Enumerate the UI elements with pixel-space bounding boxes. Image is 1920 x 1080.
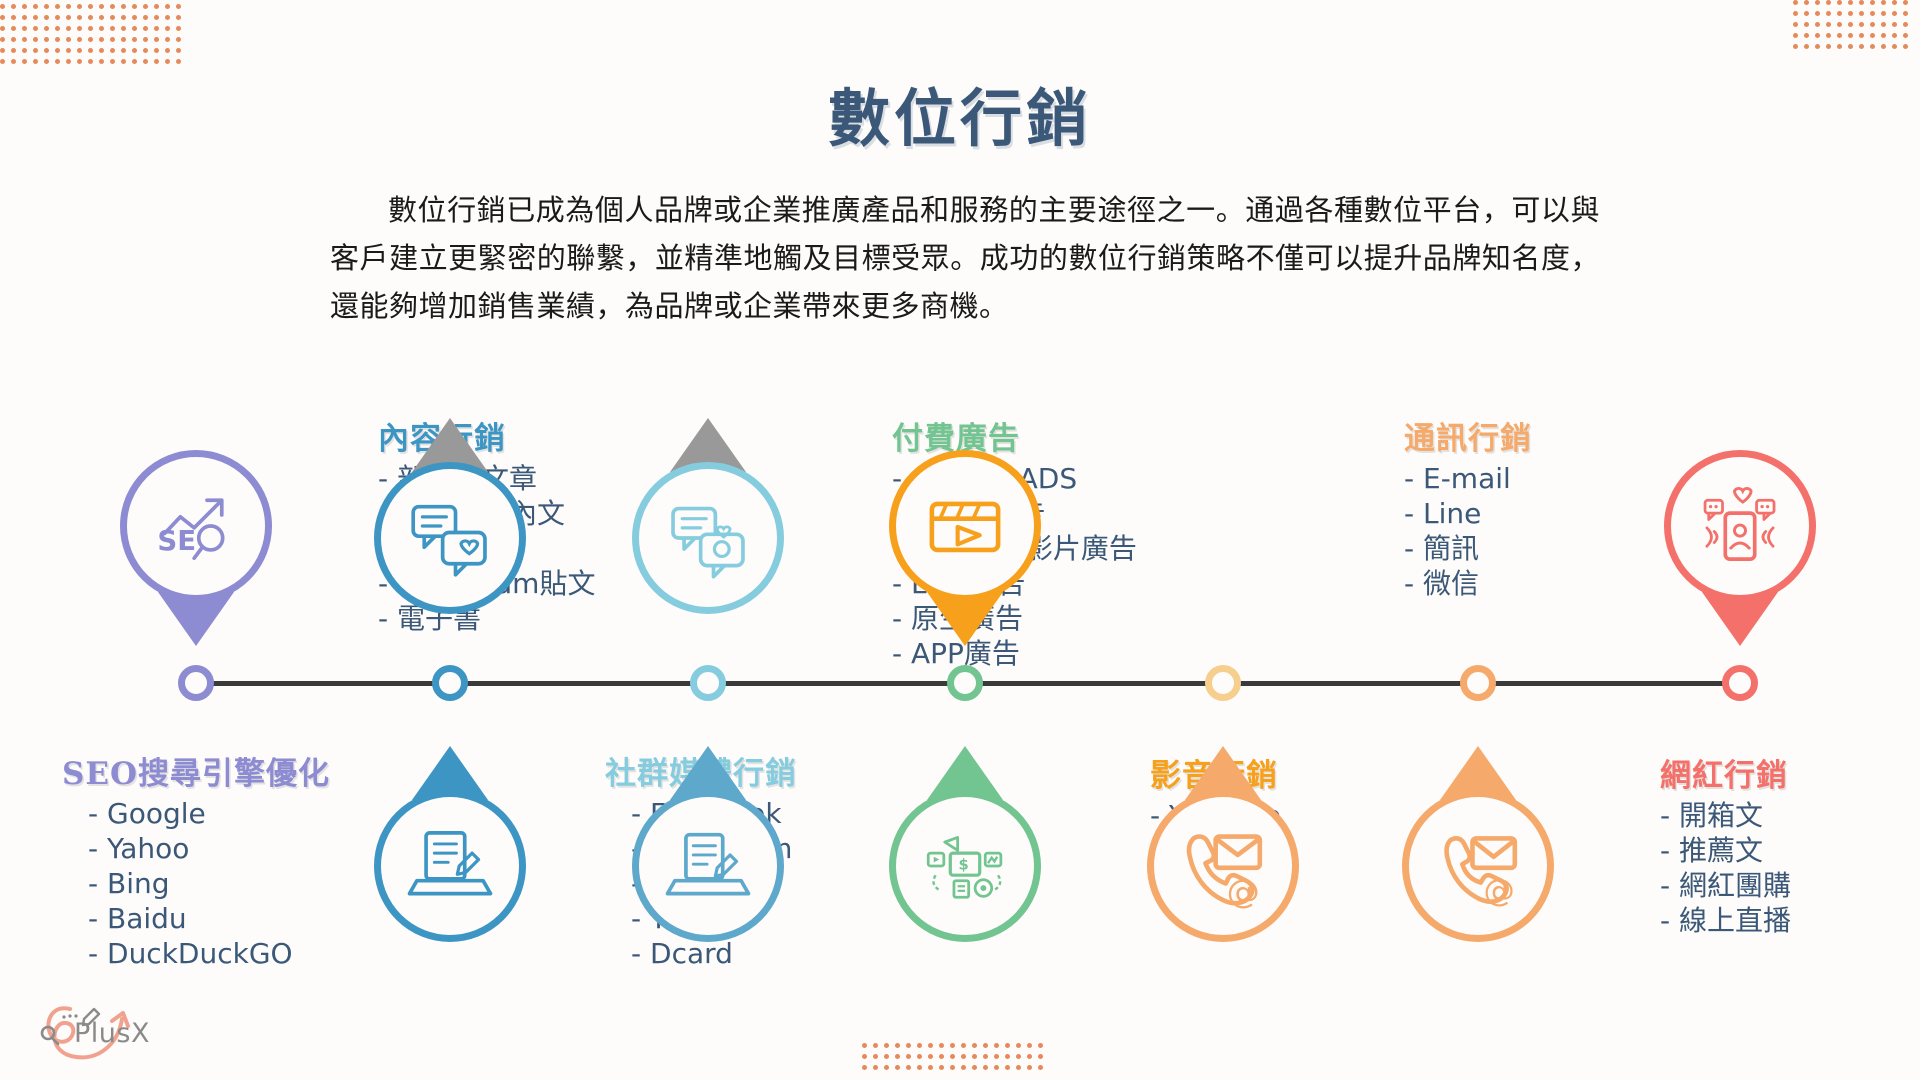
pin-seo[interactable]: SE <box>120 450 272 602</box>
timeline-node-paid-ads[interactable] <box>947 665 983 701</box>
section-influencer: 網紅行銷 - 開箱文 - 推薦文 - 網紅團購 - 線上直播 <box>1660 750 1791 938</box>
section-list-influencer: - 開箱文 - 推薦文 - 網紅團購 - 線上直播 <box>1660 798 1791 938</box>
video-clapper-play-icon <box>919 480 1011 572</box>
seo-magnifier-chart-icon: SE <box>150 480 242 572</box>
laptop-pen-icon <box>662 820 754 912</box>
section-seo: SEO搜尋引擎優化 - Google - Yahoo - Bing - Baid… <box>62 748 330 971</box>
smartphone-livestream-hearts-icon <box>1694 480 1786 572</box>
infographic-canvas: 數位行銷 數位行銷已成為個人品牌或企業推廣產品和服務的主要途徑之一。通過各種數位… <box>0 0 1920 1080</box>
list-item: - DuckDuckGO <box>88 936 330 971</box>
list-item: - Baidu <box>88 901 330 936</box>
chat-bubbles-social-icon <box>662 492 754 584</box>
laptop-pen-document-icon <box>404 820 496 912</box>
pin-content[interactable] <box>374 462 526 614</box>
section-list-seo: - Google - Yahoo - Bing - Baidu - DuckDu… <box>62 796 330 971</box>
timeline-node-influencer[interactable] <box>1722 665 1758 701</box>
section-list-messaging: - E-mail - Line - 簡訊 - 微信 <box>1404 461 1532 601</box>
section-heading-seo: SEO搜尋引擎優化 <box>62 748 330 793</box>
list-item: - Bing <box>88 866 330 901</box>
list-item: - 推薦文 <box>1660 833 1791 868</box>
svg-text:@: @ <box>1227 872 1260 911</box>
pin-social-graphic[interactable] <box>632 462 784 614</box>
page-title: 數位行銷 <box>0 68 1920 158</box>
timeline-node-social[interactable] <box>690 665 726 701</box>
pin-social-laptop[interactable] <box>632 790 784 942</box>
dot-pattern-bottom <box>862 1043 1049 1076</box>
list-item: - 開箱文 <box>1660 798 1791 833</box>
list-item: - E-mail <box>1404 461 1532 496</box>
list-item: - 線上直播 <box>1660 903 1791 938</box>
timeline-node-messaging[interactable] <box>1460 665 1496 701</box>
pin-messaging[interactable]: @ <box>1402 790 1554 942</box>
section-messaging: 通訊行銷 - E-mail - Line - 簡訊 - 微信 <box>1404 413 1532 601</box>
timeline-node-seo[interactable] <box>178 665 214 701</box>
pin-social[interactable] <box>374 790 526 942</box>
pin-video[interactable]: @ <box>1147 790 1299 942</box>
list-item: - 網紅團購 <box>1660 868 1791 903</box>
list-item: - 簡訊 <box>1404 531 1532 566</box>
timeline-node-content[interactable] <box>432 665 468 701</box>
phone-envelope-at-icon: @ <box>1432 820 1524 912</box>
svg-text:$: $ <box>959 857 969 874</box>
section-heading-messaging: 通訊行銷 <box>1404 413 1532 458</box>
pin-paid-ads-graphic[interactable]: $ <box>889 790 1041 942</box>
list-item: - 微信 <box>1404 566 1532 601</box>
brand-wordmark: PlusX <box>74 1018 150 1049</box>
chat-bubbles-icon <box>404 492 496 584</box>
brand-logo[interactable]: PlusX <box>22 995 162 1070</box>
dot-pattern-top-right <box>1793 0 1914 55</box>
phone-at-envelope-icon: @ <box>1177 820 1269 912</box>
pin-paid-ads[interactable] <box>889 450 1041 602</box>
intro-paragraph: 數位行銷已成為個人品牌或企業推廣產品和服務的主要途徑之一。通過各種數位平台，可以… <box>330 186 1600 330</box>
pin-influencer[interactable] <box>1664 450 1816 602</box>
list-item: - Google <box>88 796 330 831</box>
svg-text:@: @ <box>1484 873 1515 909</box>
section-heading-influencer: 網紅行銷 <box>1660 750 1791 795</box>
dot-pattern-top-left <box>0 4 187 70</box>
ads-network-monitor-icon: $ <box>919 820 1011 912</box>
timeline-node-video[interactable] <box>1205 665 1241 701</box>
list-item: - Yahoo <box>88 831 330 866</box>
svg-text:SE: SE <box>157 524 196 557</box>
list-item: - Line <box>1404 496 1532 531</box>
